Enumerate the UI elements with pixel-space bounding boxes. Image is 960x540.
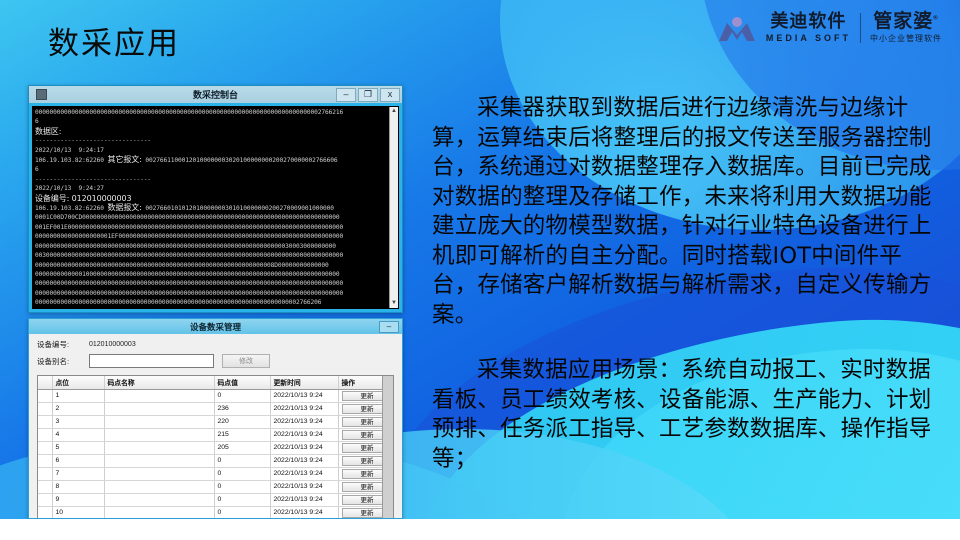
console-line-label: 数据报文: <box>108 203 142 212</box>
col-select <box>38 376 52 389</box>
cell-point-index: 6 <box>52 454 104 467</box>
col-update-time: 更新时间 <box>270 376 338 389</box>
cell-point-name[interactable] <box>104 454 214 467</box>
cell-point-name[interactable] <box>104 389 214 402</box>
cell-point-name[interactable] <box>104 441 214 454</box>
console-line: 0000000000000000000000000000000000000000… <box>35 279 396 288</box>
console-line: 6 <box>35 308 396 309</box>
table-row[interactable]: 902022/10/13 9:24更新 <box>38 493 394 506</box>
logo-text-block: 美迪软件 MEDIA SOFT 管家婆® 中小企业管理软件 <box>766 12 942 43</box>
console-line-payload: 0027660101012010000000301010000000200270… <box>142 205 334 212</box>
row-select-cell[interactable] <box>38 506 52 519</box>
table-row[interactable]: 22362022/10/13 9:24更新 <box>38 402 394 415</box>
console-line: 0000000000000000000000000000000000000000… <box>35 261 396 270</box>
console-line: 2022/10/13 9:24:27 <box>35 184 396 193</box>
point-table-body: 102022/10/13 9:24更新22362022/10/13 9:24更新… <box>38 389 394 519</box>
table-row[interactable]: 52052022/10/13 9:24更新 <box>38 441 394 454</box>
row-select-cell[interactable] <box>38 415 52 428</box>
col-point-index: 点位 <box>52 376 104 389</box>
device-alias-row: 设备别名: 修改 <box>37 354 394 368</box>
device-no-row: 设备编号: 012010000003 <box>37 339 394 350</box>
cell-point-value: 205 <box>214 441 270 454</box>
logo-divider <box>860 13 861 43</box>
point-table-header-row: 点位 码点名称 码点值 更新时间 操作 <box>38 376 394 389</box>
console-line: 106.19.103.82:62260 其它报文: 00276611000120… <box>35 155 396 165</box>
device-no-value: 012010000003 <box>89 341 136 348</box>
body-text-block: 采集器获取到数据后进行边缘清洗与边缘计算，运算结束后将整理后的报文传送至服务器控… <box>432 94 937 500</box>
paragraph-2: 采集数据应用场景：系统自动报工、实时数据看板、员工绩效考核、设备能源、生产能力、… <box>432 356 937 474</box>
console-line-source: 106.19.103.82:62260 <box>35 205 108 212</box>
cell-point-value: 0 <box>214 454 270 467</box>
device-no-label: 设备编号: <box>37 339 89 350</box>
device-management-window[interactable]: 设备数采管理 – 设备编号: 012010000003 设备别名: 修改 点位 … <box>28 318 403 519</box>
cell-point-name[interactable] <box>104 480 214 493</box>
console-line: 6 <box>35 117 396 126</box>
cell-point-name[interactable] <box>104 506 214 519</box>
row-select-cell[interactable] <box>38 428 52 441</box>
paragraph-1: 采集器获取到数据后进行边缘清洗与边缘计算，运算结束后将整理后的报文传送至服务器控… <box>432 94 937 330</box>
cell-point-value: 0 <box>214 506 270 519</box>
logo-brand-en: MEDIA SOFT <box>766 34 851 43</box>
device-alias-label: 设备别名: <box>37 356 89 367</box>
bottom-white-strip <box>0 519 960 540</box>
console-output-area[interactable]: 0000000000000000000000000000000000000000… <box>32 106 399 309</box>
console-line-source: 106.19.103.82:62260 <box>35 157 108 164</box>
console-line: 0001C00D700CD000000000000000000000000000… <box>35 213 396 222</box>
console-line-label: 其它报文: <box>108 155 142 164</box>
logo-product-name: 管家婆 <box>873 11 933 32</box>
cell-point-index: 2 <box>52 402 104 415</box>
cell-point-value: 236 <box>214 402 270 415</box>
device-alias-input[interactable] <box>89 354 214 368</box>
console-line: 001EF001E0000000000000000000000000000000… <box>35 223 396 232</box>
row-select-cell[interactable] <box>38 441 52 454</box>
cell-point-value: 0 <box>214 467 270 480</box>
table-row[interactable]: 42152022/10/13 9:24更新 <box>38 428 394 441</box>
table-row[interactable]: 1002022/10/13 9:24更新 <box>38 506 394 519</box>
row-select-cell[interactable] <box>38 389 52 402</box>
maximize-button[interactable]: ❐ <box>358 88 378 102</box>
cell-point-index: 10 <box>52 506 104 519</box>
cell-point-index: 1 <box>52 389 104 402</box>
cell-point-index: 5 <box>52 441 104 454</box>
cell-update-time: 2022/10/13 9:24 <box>270 467 338 480</box>
cell-point-index: 4 <box>52 428 104 441</box>
console-line: -------------------------------- <box>35 175 396 184</box>
col-point-value: 码点值 <box>214 376 270 389</box>
cell-point-name[interactable] <box>104 493 214 506</box>
cell-point-index: 8 <box>52 480 104 493</box>
cell-update-time: 2022/10/13 9:24 <box>270 402 338 415</box>
logo-registered-mark: ® <box>933 16 938 22</box>
cell-update-time: 2022/10/13 9:24 <box>270 428 338 441</box>
device-form: 设备编号: 012010000003 设备别名: 修改 <box>29 334 402 375</box>
cell-point-value: 215 <box>214 428 270 441</box>
cell-point-index: 7 <box>52 467 104 480</box>
table-row[interactable]: 102022/10/13 9:24更新 <box>38 389 394 402</box>
logo-brand-cn: 美迪软件 <box>770 12 846 30</box>
console-line: 0000000000000000000000000000000000000000… <box>35 298 396 307</box>
row-select-cell[interactable] <box>38 467 52 480</box>
scroll-up-icon[interactable]: ▲ <box>391 107 397 116</box>
cell-point-value: 0 <box>214 389 270 402</box>
cell-point-value: 0 <box>214 493 270 506</box>
row-select-cell[interactable] <box>38 402 52 415</box>
point-table-head: 点位 码点名称 码点值 更新时间 操作 <box>38 376 394 389</box>
cell-update-time: 2022/10/13 9:24 <box>270 506 338 519</box>
cell-point-name[interactable] <box>104 402 214 415</box>
cell-update-time: 2022/10/13 9:24 <box>270 415 338 428</box>
cell-point-name[interactable] <box>104 467 214 480</box>
console-line: 0000000000000000000000000000000000000000… <box>35 289 396 298</box>
console-line: 0030000000000000000000000000000000000000… <box>35 251 396 260</box>
console-line: 设备编号: 012010000003 <box>35 194 396 203</box>
console-title-bar[interactable]: 数采控制台 – ❐ x <box>29 86 402 103</box>
console-log-lines: 0000000000000000000000000000000000000000… <box>33 107 398 309</box>
console-line: 0000000000000000000000000000000000000000… <box>35 108 396 117</box>
console-line: 106.19.103.82:62260 数据报文: 00276601010120… <box>35 203 396 213</box>
page-title: 数采应用 <box>48 18 180 63</box>
logo-product-cn: 管家婆® <box>873 12 938 31</box>
cell-update-time: 2022/10/13 9:24 <box>270 454 338 467</box>
cell-point-index: 9 <box>52 493 104 506</box>
console-line: 0000000000000100000000000000000000000000… <box>35 270 396 279</box>
console-line: 2022/10/13 9:24:17 <box>35 146 396 155</box>
close-button[interactable]: x <box>380 88 400 102</box>
point-table: 点位 码点名称 码点值 更新时间 操作 102022/10/13 9:24更新2… <box>38 376 394 519</box>
device-title-bar[interactable]: 设备数采管理 – <box>29 319 402 334</box>
console-window[interactable]: 数采控制台 – ❐ x 0000000000000000000000000000… <box>28 85 403 313</box>
point-table-wrapper[interactable]: 点位 码点名称 码点值 更新时间 操作 102022/10/13 9:24更新2… <box>37 375 394 519</box>
cell-point-index: 3 <box>52 415 104 428</box>
row-select-cell[interactable] <box>38 493 52 506</box>
logo-media-soft: 美迪软件 MEDIA SOFT <box>766 12 851 43</box>
console-line: 6 <box>35 165 396 174</box>
device-minimize-button[interactable]: – <box>379 321 399 333</box>
cell-update-time: 2022/10/13 9:24 <box>270 493 338 506</box>
cell-update-time: 2022/10/13 9:24 <box>270 441 338 454</box>
logo-product-sub: 中小企业管理软件 <box>870 35 942 43</box>
cell-point-name[interactable] <box>104 428 214 441</box>
table-row[interactable]: 32202022/10/13 9:24更新 <box>38 415 394 428</box>
slide-canvas: 美迪软件 MEDIA SOFT 管家婆® 中小企业管理软件 数采应用 数采控制台… <box>0 0 960 519</box>
table-row[interactable]: 802022/10/13 9:24更新 <box>38 480 394 493</box>
console-line: 000000000000000000001EF00000000000000000… <box>35 232 396 241</box>
cell-point-value: 220 <box>214 415 270 428</box>
console-scrollbar[interactable]: ▲ ▼ <box>389 107 398 308</box>
modify-button[interactable]: 修改 <box>222 354 270 368</box>
row-select-cell[interactable] <box>38 480 52 493</box>
console-window-buttons: – ❐ x <box>336 88 400 102</box>
media-soft-mark-icon <box>717 13 757 43</box>
console-line-payload: 0027661100012010000000302010000000020027… <box>142 157 338 164</box>
cell-point-name[interactable] <box>104 415 214 428</box>
table-row[interactable]: 602022/10/13 9:24更新 <box>38 454 394 467</box>
minimize-button[interactable]: – <box>336 88 356 102</box>
cell-update-time: 2022/10/13 9:24 <box>270 480 338 493</box>
brand-logo: 美迪软件 MEDIA SOFT 管家婆® 中小企业管理软件 <box>717 12 942 43</box>
console-line: 0000000000000000000000000000000000000000… <box>35 242 396 251</box>
scroll-down-icon[interactable]: ▼ <box>391 299 397 308</box>
table-row[interactable]: 702022/10/13 9:24更新 <box>38 467 394 480</box>
point-table-scrollbar[interactable] <box>382 376 393 519</box>
col-point-name: 码点名称 <box>104 376 214 389</box>
device-window-title: 设备数采管理 <box>29 321 402 333</box>
cell-point-value: 0 <box>214 480 270 493</box>
console-line: 数据区: <box>35 127 396 136</box>
logo-guanjiapo: 管家婆® 中小企业管理软件 <box>870 12 942 43</box>
console-line: -------------------------------- <box>35 136 396 145</box>
cell-update-time: 2022/10/13 9:24 <box>270 389 338 402</box>
row-select-cell[interactable] <box>38 454 52 467</box>
